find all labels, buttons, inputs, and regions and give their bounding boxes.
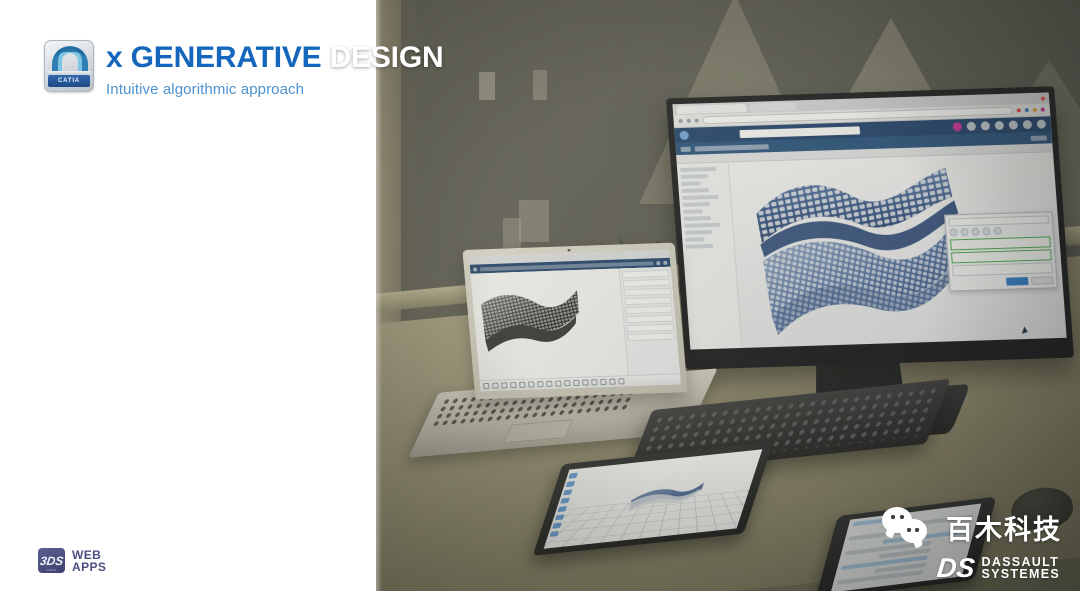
compass-icon[interactable] bbox=[679, 131, 689, 140]
laptop-toolbar-icon[interactable] bbox=[546, 381, 553, 387]
dialog-tool-icon[interactable] bbox=[949, 228, 958, 236]
browser-tab[interactable] bbox=[750, 102, 797, 111]
dialog-tool-icon[interactable] bbox=[960, 228, 969, 236]
laptop-lid bbox=[462, 243, 687, 400]
dark-lattice-model[interactable] bbox=[478, 286, 584, 355]
brand-lockup: CATIA x GENERATIVE DESIGN Intuitive algo… bbox=[44, 40, 443, 98]
photo-scene bbox=[371, 0, 1080, 591]
dark-lattice-svg bbox=[478, 286, 584, 355]
laptop-toolbar-icon[interactable] bbox=[519, 382, 526, 388]
laptop-screen[interactable] bbox=[469, 250, 681, 391]
tablet-tool-chip[interactable] bbox=[563, 489, 573, 495]
feature-tree-row[interactable] bbox=[685, 230, 712, 235]
catia-icon-plate: CATIA bbox=[48, 75, 90, 87]
laptop-toolbar-icon[interactable] bbox=[501, 382, 508, 388]
compass-icon[interactable] bbox=[473, 267, 477, 271]
window-close-icon[interactable] bbox=[1041, 96, 1045, 100]
laptop-panel-row[interactable] bbox=[627, 333, 675, 342]
feature-tree-row[interactable] bbox=[684, 223, 720, 228]
tablet-tool-chip[interactable] bbox=[566, 481, 576, 487]
page-title: x GENERATIVE DESIGN bbox=[106, 42, 443, 74]
apps-icon[interactable] bbox=[1023, 120, 1033, 129]
laptop-toolbar-icon[interactable] bbox=[492, 383, 499, 389]
wall-poster bbox=[479, 72, 495, 100]
slide-root: CATIA x GENERATIVE DESIGN Intuitive algo… bbox=[0, 0, 1080, 591]
laptop-toolbar-icon[interactable] bbox=[555, 380, 562, 386]
laptop-workspace bbox=[470, 267, 680, 392]
laptop-toolbar-icon[interactable] bbox=[564, 380, 571, 386]
web-apps-logo: 3DS CATIA WEB APPS bbox=[38, 548, 106, 573]
dialog-ok-button[interactable] bbox=[1006, 277, 1029, 286]
web-apps-line1: WEB bbox=[72, 549, 106, 561]
laptop-toolbar-icon[interactable] bbox=[582, 379, 589, 385]
laptop-toolbar-icon[interactable] bbox=[609, 379, 616, 385]
laptop-toolbar-icon[interactable] bbox=[528, 381, 535, 387]
wechat-icon bbox=[882, 507, 934, 547]
laptop-toolbar-icon[interactable] bbox=[573, 380, 580, 386]
laptop-toolbar-icon[interactable] bbox=[618, 378, 625, 384]
laptop-panel-row[interactable] bbox=[622, 270, 670, 279]
wechat-bubble-small bbox=[900, 519, 927, 543]
laptop-panel-row[interactable] bbox=[624, 297, 672, 306]
catia-icon: CATIA bbox=[44, 40, 94, 92]
mouse-cursor-icon bbox=[1022, 327, 1029, 336]
share-icon[interactable] bbox=[1009, 120, 1019, 129]
ds-wordmark: DASSAULT SYSTEMES bbox=[982, 556, 1060, 582]
ds-line2: SYSTEMES bbox=[982, 568, 1060, 581]
dialog-cancel-button[interactable] bbox=[1031, 276, 1054, 285]
title-prefix: x bbox=[106, 41, 123, 74]
wechat-brand-name: 百木科技 bbox=[946, 508, 1062, 547]
dialog-toolbar[interactable] bbox=[949, 225, 1050, 236]
3d-viewport[interactable] bbox=[729, 152, 1067, 349]
feature-tree-row[interactable] bbox=[683, 202, 710, 207]
dialog-row[interactable] bbox=[950, 236, 1051, 250]
laptop-toolbar-icon[interactable] bbox=[600, 379, 607, 385]
dassault-systemes-logo: DS DASSAULT SYSTEMES bbox=[937, 556, 1060, 582]
tablet-tool-chip[interactable] bbox=[568, 473, 578, 479]
help-icon[interactable] bbox=[1037, 120, 1047, 129]
browser-tab[interactable] bbox=[677, 103, 748, 113]
laptop-panel-row[interactable] bbox=[626, 315, 674, 324]
tablet-tool-chip[interactable] bbox=[560, 498, 570, 504]
desktop-monitor bbox=[666, 86, 1074, 369]
avatar-icon[interactable] bbox=[656, 261, 660, 265]
app-workspace bbox=[677, 152, 1067, 349]
breadcrumb[interactable] bbox=[695, 144, 769, 151]
feature-tree-row[interactable] bbox=[685, 237, 704, 242]
web-apps-text: WEB APPS bbox=[72, 549, 106, 573]
app-logo-icon bbox=[681, 146, 691, 151]
web-apps-line2: APPS bbox=[72, 561, 106, 573]
laptop-panel-row[interactable] bbox=[623, 288, 671, 297]
laptop-3d-viewport[interactable] bbox=[470, 269, 628, 392]
wall-poster bbox=[533, 70, 547, 100]
dialog-row[interactable] bbox=[951, 249, 1052, 263]
feature-tree-row[interactable] bbox=[681, 181, 700, 186]
laptop bbox=[462, 243, 687, 400]
feature-tree-row[interactable] bbox=[682, 195, 718, 200]
edit-icon[interactable] bbox=[1031, 135, 1047, 140]
title-block: x GENERATIVE DESIGN Intuitive algorithmi… bbox=[106, 40, 443, 98]
feature-dialog[interactable] bbox=[944, 211, 1058, 291]
feature-tree-row[interactable] bbox=[686, 244, 713, 249]
laptop-side-panel[interactable] bbox=[619, 267, 681, 386]
wall-poster bbox=[519, 200, 549, 242]
feature-tree-row[interactable] bbox=[683, 209, 702, 214]
laptop-trackpad[interactable] bbox=[503, 419, 574, 443]
add-icon[interactable] bbox=[981, 121, 991, 130]
apps-icon[interactable] bbox=[663, 260, 667, 264]
dialog-tool-icon[interactable] bbox=[993, 227, 1002, 235]
tablet-screen[interactable] bbox=[544, 449, 763, 548]
catia-arch-highlight bbox=[54, 47, 86, 60]
laptop-toolbar-icon[interactable] bbox=[591, 379, 598, 385]
laptop-toolbar-icon[interactable] bbox=[510, 382, 517, 388]
forward-icon[interactable] bbox=[687, 119, 691, 123]
feature-tree-row[interactable] bbox=[681, 174, 708, 179]
3ds-badge-icon: 3DS CATIA bbox=[38, 548, 65, 573]
feature-tree-row[interactable] bbox=[680, 167, 716, 172]
catia-plate-label: CATIA bbox=[58, 78, 80, 84]
dialog-row[interactable] bbox=[952, 262, 1053, 276]
page-subtitle: Intuitive algorithmic approach bbox=[106, 81, 443, 98]
global-search-input[interactable] bbox=[739, 126, 860, 138]
extension-icon[interactable] bbox=[1041, 108, 1045, 112]
notifications-icon[interactable] bbox=[966, 122, 976, 131]
monitor-screen[interactable] bbox=[672, 92, 1066, 349]
webcam-icon bbox=[567, 249, 570, 252]
laptop-panel-row[interactable] bbox=[627, 324, 675, 333]
feature-tree-row[interactable] bbox=[682, 188, 709, 193]
laptop-toolbar-icon[interactable] bbox=[483, 383, 490, 389]
laptop-panel-row[interactable] bbox=[623, 279, 671, 288]
reload-icon[interactable] bbox=[695, 118, 699, 122]
laptop-toolbar-icon[interactable] bbox=[537, 381, 544, 387]
dialog-tool-icon[interactable] bbox=[971, 228, 980, 236]
extension-icon[interactable] bbox=[1025, 108, 1029, 112]
title-design: DESIGN bbox=[330, 41, 444, 74]
laptop-panel-row[interactable] bbox=[625, 306, 673, 315]
avatar-icon[interactable] bbox=[952, 122, 962, 131]
title-generative: GENERATIVE bbox=[131, 41, 322, 74]
ds-mark-icon: DS bbox=[936, 556, 976, 580]
back-icon[interactable] bbox=[679, 119, 683, 123]
dialog-tool-icon[interactable] bbox=[982, 227, 991, 235]
extension-icon[interactable] bbox=[1033, 108, 1037, 112]
feature-tree-row[interactable] bbox=[684, 216, 711, 221]
wechat-brand-overlay: 百木科技 bbox=[882, 507, 1062, 547]
3ds-badge-sublabel: CATIA bbox=[38, 568, 65, 572]
link-icon[interactable] bbox=[995, 121, 1005, 130]
extension-icon[interactable] bbox=[1017, 108, 1021, 112]
3ds-mark: 3DS bbox=[39, 555, 64, 567]
